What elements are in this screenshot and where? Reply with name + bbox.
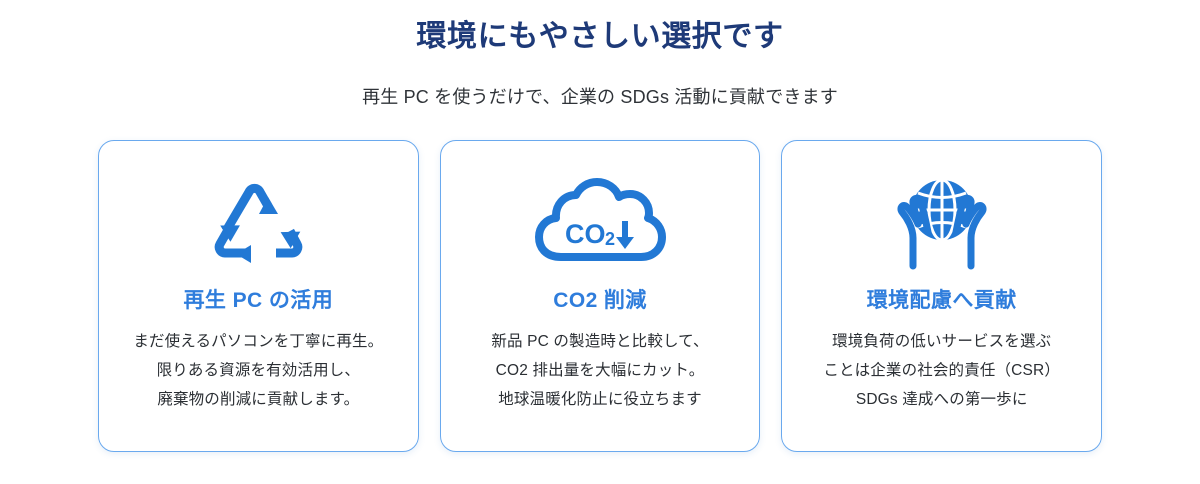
co2-text: CO (565, 219, 606, 249)
benefit-card-body-line: 新品 PC の製造時と比較して、 (491, 328, 708, 357)
benefit-card-body-line: 廃棄物の削減に貢献します。 (133, 386, 383, 415)
globe-in-hands-icon (880, 171, 1004, 275)
benefit-card-title: CO2 削減 (553, 287, 647, 314)
eco-benefits-section: 環境にもやさしい選択です 再生 PC を使うだけで、企業の SDGs 活動に貢献… (0, 0, 1200, 484)
co2-subscript: 2 (605, 229, 615, 249)
benefit-card-body-line: SDGs 達成への第一歩に (823, 386, 1060, 415)
benefit-card-body: まだ使えるパソコンを丁寧に再生。 限りある資源を有効活用し、 廃棄物の削減に貢献… (133, 328, 383, 414)
benefit-card-body: 新品 PC の製造時と比較して、 CO2 排出量を大幅にカット。 地球温暖化防止… (491, 328, 708, 414)
recycle-icon (204, 171, 312, 275)
benefit-card-body-line: 環境負荷の低いサービスを選ぶ (823, 328, 1060, 357)
benefit-card-body-line: CO2 排出量を大幅にカット。 (491, 357, 708, 386)
benefit-card-body: 環境負荷の低いサービスを選ぶ ことは企業の社会的責任（CSR） SDGs 達成へ… (823, 328, 1060, 414)
page-subtitle: 再生 PC を使うだけで、企業の SDGs 活動に貢献できます (0, 84, 1200, 111)
benefit-card-body-line: まだ使えるパソコンを丁寧に再生。 (133, 328, 383, 357)
benefit-card-body-line: 地球温暖化防止に役立ちます (491, 386, 708, 415)
benefit-card-list: 再生 PC の活用 まだ使えるパソコンを丁寧に再生。 限りある資源を有効活用し、… (98, 140, 1102, 452)
benefit-card-title: 環境配慮へ貢献 (867, 287, 1017, 314)
benefit-card-body-line: ことは企業の社会的責任（CSR） (823, 357, 1060, 386)
page-title: 環境にもやさしい選択です (0, 16, 1200, 58)
co2-cloud-icon: CO 2 (533, 171, 667, 275)
benefit-card-recycled-pc[interactable]: 再生 PC の活用 まだ使えるパソコンを丁寧に再生。 限りある資源を有効活用し、… (98, 140, 419, 452)
benefit-card-co2-reduction[interactable]: CO 2 CO2 削減 新品 PC の製造時と比較して、 CO2 排出量を大幅に… (440, 140, 761, 452)
benefit-card-title: 再生 PC の活用 (184, 287, 334, 314)
benefit-card-environmental-contribution[interactable]: 環境配慮へ貢献 環境負荷の低いサービスを選ぶ ことは企業の社会的責任（CSR） … (781, 140, 1102, 452)
benefit-card-body-line: 限りある資源を有効活用し、 (133, 357, 383, 386)
